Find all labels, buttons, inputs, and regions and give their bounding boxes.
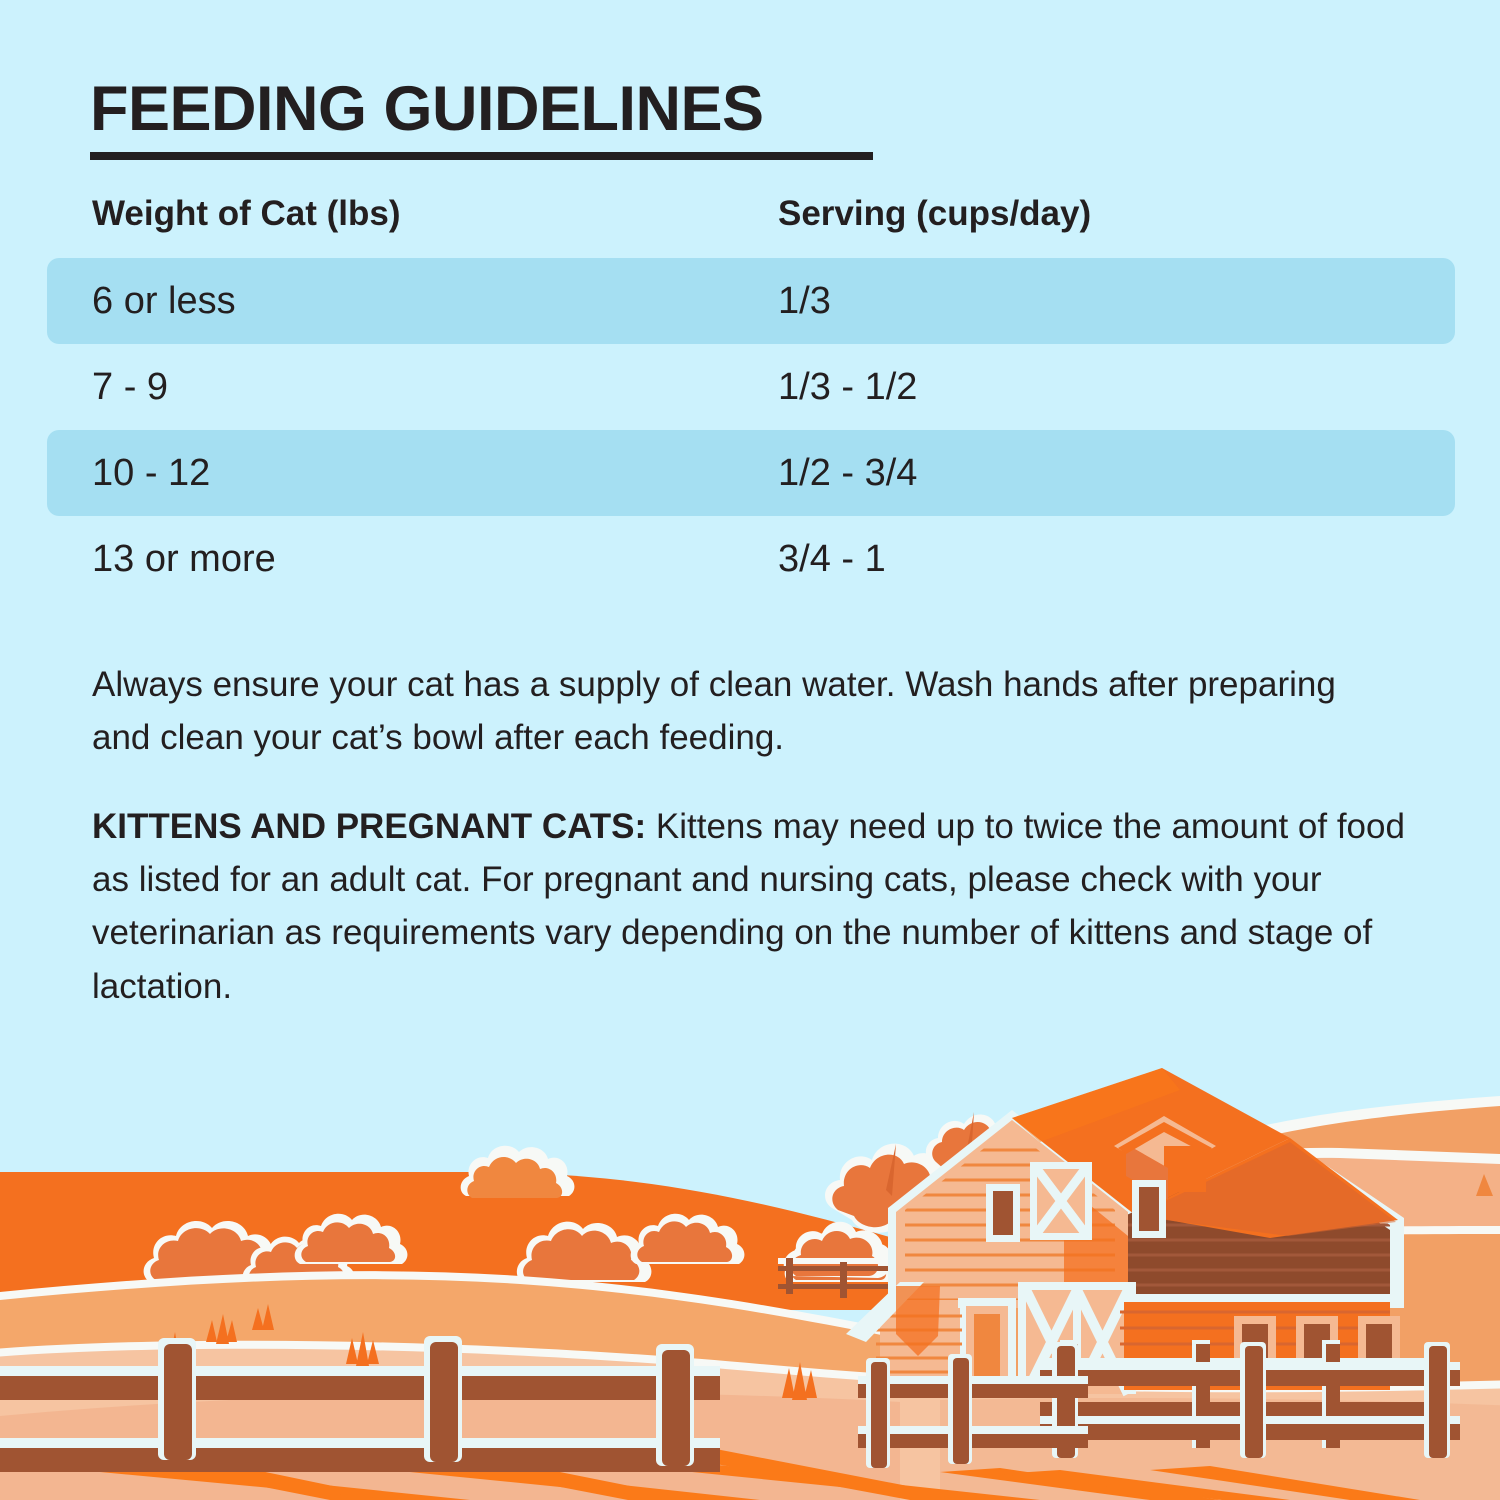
farm-illustration bbox=[0, 1050, 1500, 1500]
cell-weight: 10 - 12 bbox=[92, 430, 210, 516]
kittens-note-paragraph: KITTENS AND PREGNANT CATS: Kittens may n… bbox=[92, 800, 1422, 1013]
feeding-guidelines-panel: FEEDING GUIDELINES Weight of Cat (lbs) S… bbox=[0, 0, 1500, 1500]
kittens-note-lead: KITTENS AND PREGNANT CATS: bbox=[92, 807, 646, 846]
table-row: 6 or less 1/3 bbox=[0, 258, 1500, 344]
barn-hayloft-door bbox=[1030, 1162, 1092, 1240]
cell-serving: 1/3 bbox=[778, 258, 831, 344]
barn-upper-window-left bbox=[986, 1184, 1020, 1242]
water-note-paragraph: Always ensure your cat has a supply of c… bbox=[92, 658, 1367, 764]
table-row: 7 - 9 1/3 - 1/2 bbox=[0, 344, 1500, 430]
page-title: FEEDING GUIDELINES bbox=[90, 78, 764, 141]
cell-weight: 13 or more bbox=[92, 516, 276, 602]
table-header-row: Weight of Cat (lbs) Serving (cups/day) bbox=[0, 186, 1500, 258]
row-highlight-band bbox=[47, 430, 1455, 516]
row-highlight-band bbox=[47, 258, 1455, 344]
table-row: 13 or more 3/4 - 1 bbox=[0, 516, 1500, 602]
cell-serving: 1/2 - 3/4 bbox=[778, 430, 917, 516]
column-header-serving: Serving (cups/day) bbox=[778, 186, 1091, 234]
barn-upper-window-right bbox=[1132, 1180, 1166, 1238]
table-row: 10 - 12 1/2 - 3/4 bbox=[0, 430, 1500, 516]
cell-serving: 3/4 - 1 bbox=[778, 516, 886, 602]
farm-illustration-svg bbox=[0, 1050, 1500, 1500]
feeding-table: Weight of Cat (lbs) Serving (cups/day) 6… bbox=[0, 186, 1500, 602]
cell-weight: 6 or less bbox=[92, 258, 236, 344]
title-underline bbox=[90, 152, 873, 160]
cell-weight: 7 - 9 bbox=[92, 344, 168, 430]
cell-serving: 1/3 - 1/2 bbox=[778, 344, 917, 430]
column-header-weight: Weight of Cat (lbs) bbox=[92, 186, 401, 234]
